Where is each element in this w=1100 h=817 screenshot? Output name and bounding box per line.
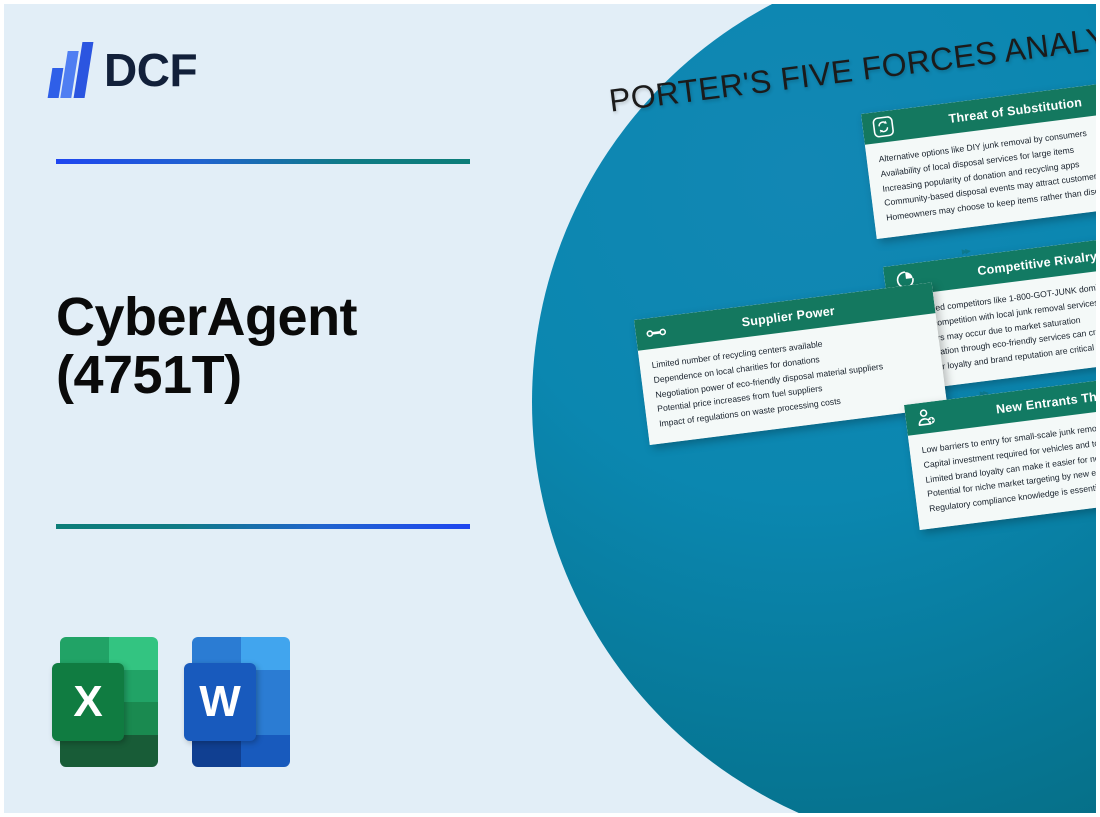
page-title-line-2: (4751T) [56, 347, 486, 405]
file-format-icons: X W [52, 637, 290, 767]
slide-page: PORTER'S FIVE FORCES ANALYSIS ▸▸ ▸▸ ▸▸ [0, 0, 1100, 817]
bar-chart-logo-icon [50, 42, 90, 98]
cover-info-panel: DCF CyberAgent (4751T) X [4, 4, 524, 813]
excel-file-icon[interactable]: X [52, 637, 158, 767]
page-title-line-1: CyberAgent [56, 289, 486, 347]
user-add-icon [915, 406, 938, 429]
word-icon-tile: W [184, 663, 256, 741]
sync-refresh-icon [872, 115, 895, 138]
dcf-brand-logo[interactable]: DCF [50, 42, 197, 98]
word-file-icon[interactable]: W [184, 637, 290, 767]
word-icon-letter: W [199, 680, 241, 724]
brand-wordmark: DCF [104, 47, 197, 93]
link-chain-icon [645, 321, 668, 344]
slide-canvas: PORTER'S FIVE FORCES ANALYSIS ▸▸ ▸▸ ▸▸ [4, 4, 1096, 813]
excel-icon-letter: X [73, 680, 102, 724]
excel-icon-tile: X [52, 663, 124, 741]
divider-rule-top [56, 159, 470, 164]
page-title: CyberAgent (4751T) [56, 289, 486, 405]
divider-rule-bottom [56, 524, 470, 529]
